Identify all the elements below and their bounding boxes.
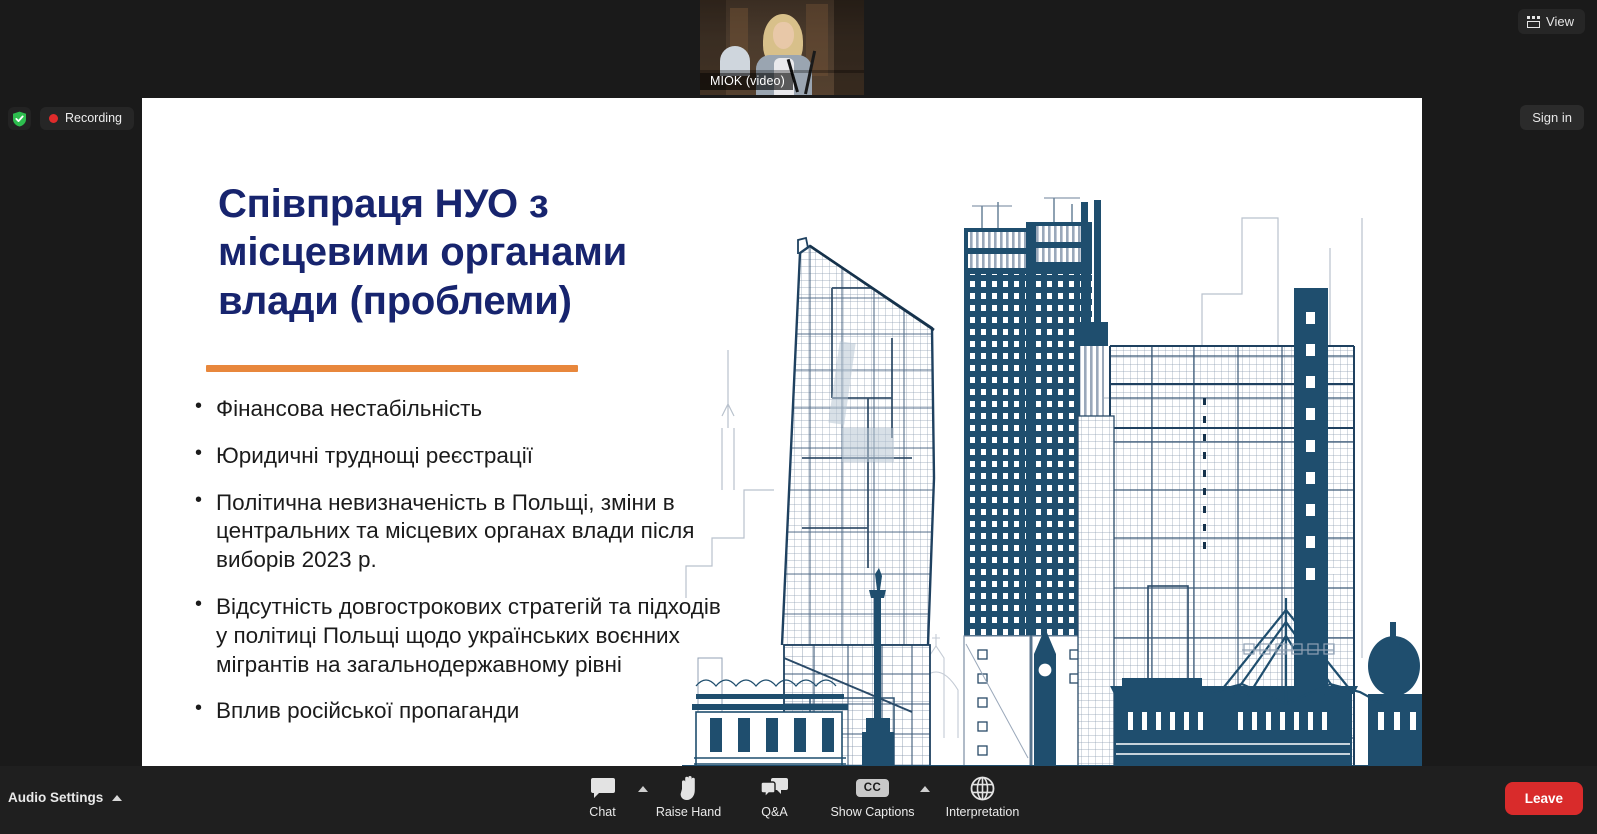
view-button[interactable]: View	[1518, 9, 1585, 34]
shared-screen-slide[interactable]: Співпраця НУО з місцевими органами влади…	[142, 98, 1422, 766]
interpretation-label: Interpretation	[946, 805, 1020, 819]
status-indicator-group: Recording	[8, 107, 134, 130]
title-accent-rule	[206, 365, 578, 372]
encryption-shield-icon[interactable]	[8, 107, 31, 130]
sign-in-button[interactable]: Sign in	[1520, 105, 1584, 130]
video-thumbnail-label: MIOK (video)	[700, 73, 793, 90]
audio-settings-button[interactable]: Audio Settings	[8, 790, 122, 805]
raised-hand-icon	[678, 774, 700, 802]
top-bar: MIOK (video) View	[0, 0, 1597, 98]
video-decor	[834, 0, 864, 95]
audio-settings-label: Audio Settings	[8, 790, 103, 805]
bullet-item: Фінансова нестабільність	[188, 395, 728, 424]
recording-dot-icon	[49, 114, 58, 123]
interpretation-button[interactable]: Interpretation	[928, 774, 1038, 819]
chat-label: Chat	[589, 805, 615, 819]
qa-bubbles-icon	[761, 774, 789, 802]
leave-label: Leave	[1525, 791, 1563, 806]
qa-label: Q&A	[761, 805, 787, 819]
meeting-toolbar: Audio Settings Chat Raise Hand	[0, 766, 1597, 834]
bullet-item: Юридичні труднощі реєстрації	[188, 442, 728, 471]
bullet-item: Відсутність довгострокових стратегій та …	[188, 593, 728, 679]
show-captions-button[interactable]: CC Show Captions	[818, 774, 928, 819]
chevron-up-icon[interactable]	[112, 795, 122, 801]
globe-icon	[970, 774, 995, 802]
speaker-figure	[773, 22, 794, 49]
slide-title: Співпраця НУО з місцевими органами влади…	[218, 180, 678, 325]
video-thumbnail[interactable]: MIOK (video)	[700, 0, 864, 95]
recording-label: Recording	[65, 111, 122, 125]
show-captions-label: Show Captions	[830, 805, 914, 819]
slide-bullet-list: Фінансова нестабільність Юридичні трудно…	[188, 395, 728, 744]
leave-button[interactable]: Leave	[1505, 782, 1583, 815]
qa-button[interactable]: Q&A	[732, 774, 818, 819]
cc-icon: CC	[856, 774, 890, 802]
sign-in-label: Sign in	[1532, 110, 1572, 125]
raise-hand-label: Raise Hand	[656, 805, 721, 819]
chat-button[interactable]: Chat	[560, 774, 646, 819]
grid-view-icon	[1527, 16, 1540, 28]
raise-hand-button[interactable]: Raise Hand	[646, 774, 732, 819]
warsaw-skyline-illustration	[682, 98, 1422, 766]
toolbar-actions: Chat Raise Hand Q&A CC	[560, 774, 1038, 819]
chat-bubble-icon	[590, 774, 616, 802]
bullet-item: Вплив російської пропаганди	[188, 697, 728, 726]
bullet-item: Політична невизначеність в Польщі, зміни…	[188, 489, 728, 575]
recording-badge[interactable]: Recording	[40, 107, 134, 130]
view-button-label: View	[1546, 14, 1574, 29]
